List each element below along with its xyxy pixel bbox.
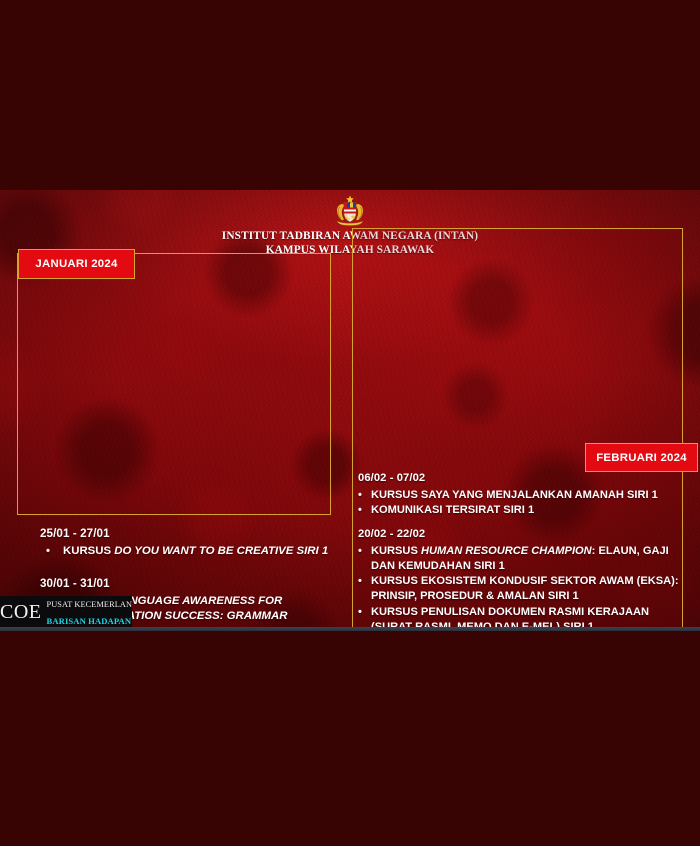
slide-viewer: INSTITUT TADBIRAN AWAM NEGARA (INTAN) KA… (0, 0, 700, 846)
malaysia-coat-of-arms-icon (332, 194, 368, 228)
course-title-emphasis: DO YOU WANT TO BE CREATIVE SIRI 1 (114, 545, 328, 557)
coe-logo-words: PUSAT KECEMERLANGAN BARISAN HADAPAN (47, 596, 133, 628)
course-title-emphasis: HUMAN RESOURCE CHAMPION (421, 545, 592, 557)
date-group: 25/01 - 27/01•KURSUS DO YOU WANT TO BE C… (40, 526, 330, 560)
course-title: KURSUS (371, 545, 421, 557)
february-schedule: 06/02 - 07/02•KURSUS SAYA YANG MENJALANK… (358, 471, 684, 631)
course-item: •KURSUS HUMAN RESOURCE CHAMPION: ELAUN, … (358, 544, 684, 575)
course-title: KURSUS (63, 545, 114, 557)
course-item: •KURSUS EKOSISTEM KONDUSIF SEKTOR AWAM (… (358, 574, 684, 605)
course-item: •KURSUS SAYA YANG MENJALANKAN AMANAH SIR… (358, 488, 684, 503)
january-badge: JANUARI 2024 (18, 249, 135, 279)
coe-logo: COE PUSAT KECEMERLANGAN BARISAN HADAPAN (0, 596, 132, 628)
bullet-icon: • (358, 544, 362, 559)
presentation-slide: INSTITUT TADBIRAN AWAM NEGARA (INTAN) KA… (0, 190, 700, 631)
course-title: KURSUS EKOSISTEM KONDUSIF SEKTOR AWAM (E… (371, 575, 679, 602)
coe-logo-line1: PUSAT KECEMERLANGAN (47, 600, 133, 609)
course-title: KURSUS SAYA YANG MENJALANKAN AMANAH SIRI… (371, 489, 658, 501)
slide-footer-line (0, 627, 700, 631)
course-item: •KOMUNIKASI TERSIRAT SIRI 1 (358, 503, 684, 518)
february-badge: FEBRUARI 2024 (585, 443, 698, 472)
bullet-icon: • (358, 503, 362, 518)
coe-logo-line2: BARISAN HADAPAN (47, 616, 132, 626)
date-range: 20/02 - 22/02 (358, 527, 684, 543)
january-panel (17, 253, 331, 515)
bullet-icon: • (46, 544, 50, 560)
course-item: •KURSUS DO YOU WANT TO BE CREATIVE SIRI … (40, 544, 330, 560)
bullet-icon: • (358, 574, 362, 589)
date-group: 20/02 - 22/02•KURSUS HUMAN RESOURCE CHAM… (358, 527, 684, 631)
course-title: KOMUNIKASI TERSIRAT SIRI 1 (371, 504, 534, 516)
coe-logo-mark: COE (0, 602, 42, 622)
date-group: 06/02 - 07/02•KURSUS SAYA YANG MENJALANK… (358, 471, 684, 518)
date-range: 30/01 - 31/01 (40, 576, 330, 592)
bullet-icon: • (358, 488, 362, 503)
date-range: 25/01 - 27/01 (40, 526, 330, 542)
date-range: 06/02 - 07/02 (358, 471, 684, 487)
bullet-icon: • (358, 605, 362, 620)
